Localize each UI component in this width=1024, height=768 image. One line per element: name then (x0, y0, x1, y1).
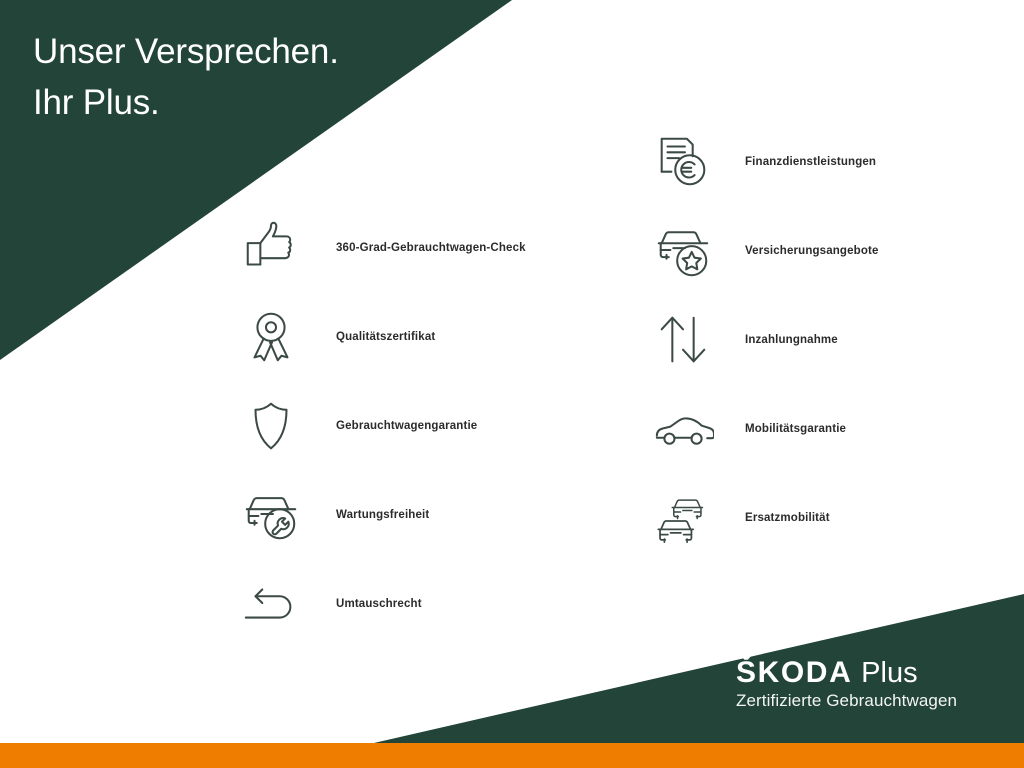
feature-item-mobilitaetsgarantie[interactable]: Mobilitätsgarantie (648, 384, 879, 473)
feature-item-finanzdienstleistungen[interactable]: Finanzdienstleistungen (648, 117, 879, 206)
rosette-award-icon (236, 302, 306, 372)
orange-accent-bar (0, 743, 1024, 768)
feature-item-umtauschrecht[interactable]: Umtauschrecht (236, 559, 526, 648)
u-turn-arrow-icon (236, 569, 306, 639)
feature-label: Finanzdienstleistungen (745, 156, 876, 168)
car-side-icon (648, 394, 718, 464)
brand-name: ŠKODA (736, 656, 851, 689)
two-cars-icon (648, 483, 718, 553)
headline: Unser Versprechen. Ihr Plus. (33, 26, 339, 128)
feature-label: 360-Grad-Gebrauchtwagen-Check (336, 242, 526, 254)
up-down-arrows-icon (648, 305, 718, 375)
feature-label: Gebrauchtwagengarantie (336, 420, 477, 432)
document-euro-icon (648, 127, 718, 197)
brand-tagline: Zertifizierte Gebrauchtwagen (736, 691, 957, 711)
feature-item-ersatzmobilitaet[interactable]: Ersatzmobilität (648, 473, 879, 562)
brand-logo: ŠKODA Plus Zertifizierte Gebrauchtwagen (736, 657, 957, 711)
feature-list-left: 360-Grad-Gebrauchtwagen-Check Qualitätsz… (236, 203, 526, 648)
feature-label: Inzahlungnahme (745, 334, 838, 346)
feature-item-inzahlungnahme[interactable]: Inzahlungnahme (648, 295, 879, 384)
car-wrench-icon (236, 480, 306, 550)
feature-item-360-grad-check[interactable]: 360-Grad-Gebrauchtwagen-Check (236, 203, 526, 292)
brand-suffix: Plus (861, 657, 917, 689)
brand-wordmark: ŠKODA Plus (736, 657, 957, 689)
shield-icon (236, 391, 306, 461)
promo-banner: Unser Versprechen. Ihr Plus. 360-Grad-Ge… (0, 0, 1024, 768)
feature-item-qualitaetszertifikat[interactable]: Qualitätszertifikat (236, 292, 526, 381)
thumbs-up-icon (236, 213, 306, 283)
feature-label: Qualitätszertifikat (336, 331, 435, 343)
feature-item-wartungsfreiheit[interactable]: Wartungsfreiheit (236, 470, 526, 559)
feature-label: Wartungsfreiheit (336, 509, 429, 521)
feature-label: Ersatzmobilität (745, 512, 830, 524)
car-star-icon (648, 216, 718, 286)
feature-label: Versicherungsangebote (745, 245, 879, 257)
feature-item-versicherungsangebote[interactable]: Versicherungsangebote (648, 206, 879, 295)
feature-list-right: Finanzdienstleistungen Versicherungsange… (648, 117, 879, 562)
feature-label: Mobilitätsgarantie (745, 423, 846, 435)
feature-label: Umtauschrecht (336, 598, 422, 610)
feature-item-gebrauchtwagengarantie[interactable]: Gebrauchtwagengarantie (236, 381, 526, 470)
